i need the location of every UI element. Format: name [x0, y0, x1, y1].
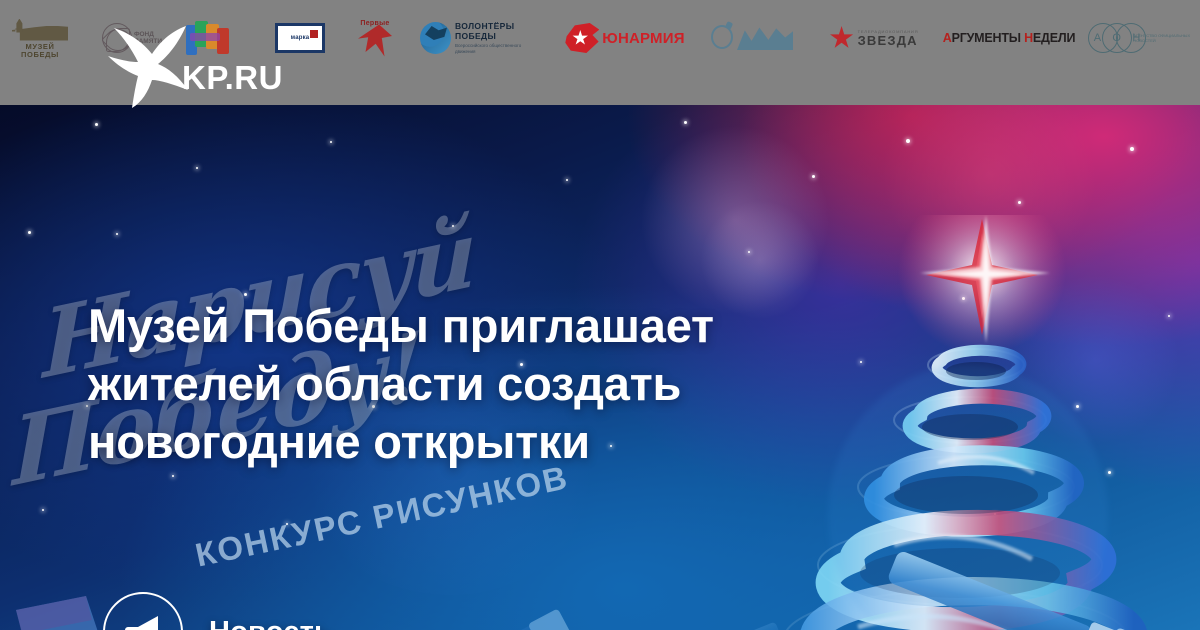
logo-marka-label: марка: [291, 35, 310, 41]
logo-argumenty-rgumenty: РГУМЕНТЫ: [952, 31, 1021, 45]
museum-building-icon: [12, 17, 68, 41]
logo-argumenty-a: А: [943, 31, 952, 45]
logo-volontery-line2: ПОБЕДЫ: [455, 32, 540, 42]
zvezda-star-icon: [830, 26, 854, 50]
contest-label: КОНКУРС РИСУНКОВ: [192, 458, 572, 574]
logo-museum-pobedy[interactable]: МУЗЕЙ ПОБЕДЫ: [8, 14, 72, 62]
logo-aon-a: А: [1094, 32, 1101, 44]
logo-zvezda-line2: ЗВЕЗДА: [858, 34, 919, 48]
kp-ru-wordmark: KP.RU: [182, 59, 283, 97]
logo-aon[interactable]: А О Н АГЕНТСТВО ОФИЦИАЛЬНЫХ НОВОСТЕЙ: [1088, 14, 1192, 62]
yunarmiya-star-icon: [572, 30, 588, 46]
swallow-bird-icon: [108, 22, 192, 108]
volontery-emblem-icon: [420, 22, 451, 54]
logo-orlyata[interactable]: [706, 14, 798, 62]
hero-banner: Нарисуй Победу!: [0, 105, 1200, 630]
kp-ru-logo[interactable]: KP.RU: [108, 22, 283, 108]
logo-pervye[interactable]: Первые: [348, 14, 402, 62]
logo-museum-line2: ПОБЕДЫ: [21, 51, 59, 60]
logo-pervye-label: Первые: [360, 20, 389, 27]
screenshot-root: Нарисуй Победу!: [0, 0, 1200, 630]
logo-volontery-pobedy[interactable]: ВОЛОНТЁРЫ ПОБЕДЫ Всероссийского обществе…: [420, 14, 540, 62]
logo-argumenty-n: Н: [1024, 31, 1033, 45]
page-title: Музей Победы приглашает жителей области …: [88, 297, 918, 471]
yunarmiya-eagle-icon: [565, 23, 599, 53]
logo-yunarmiya-label: ЮНАРМИЯ: [602, 30, 684, 47]
logo-argumenty-edeli: ЕДЕЛИ: [1033, 31, 1075, 45]
logo-argumenty-nedeli[interactable]: АРГУМЕНТЫ НЕДЕЛИ: [948, 14, 1070, 62]
orlyata-emblem-icon: [709, 21, 795, 55]
logo-aon-o: О: [1112, 32, 1121, 44]
logo-volontery-line3: Всероссийского общественного движения: [455, 43, 540, 54]
news-badge[interactable]: Новость: [103, 592, 332, 630]
pervye-arrow-icon: [358, 25, 392, 57]
partner-logo-bar: МУЗЕЙ ПОБЕДЫ ФОНД ПАМЯТИ: [0, 0, 1200, 105]
logo-zvezda[interactable]: ТЕЛЕРАДИОКОМПАНИЯ ЗВЕЗДА: [820, 14, 928, 62]
news-badge-label: Новость: [209, 616, 332, 630]
logo-yunarmiya[interactable]: ЮНАРМИЯ: [566, 14, 684, 62]
aon-rings-icon: А О Н: [1088, 23, 1130, 53]
logo-aon-n: Н: [1132, 32, 1140, 44]
megaphone-icon: [103, 592, 183, 630]
